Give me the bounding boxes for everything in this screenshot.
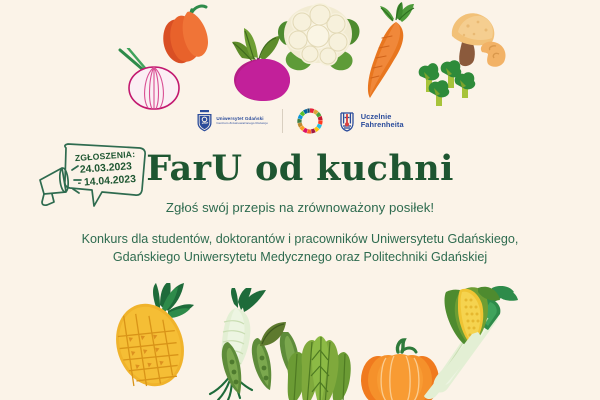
ug-subtitle: Centrum Zrównoważonego Rozwoju	[216, 122, 267, 125]
leafy-cabbage-icon	[278, 330, 362, 400]
poster-canvas: Uniwersytet Gdański Centrum Zrównoważone…	[0, 0, 600, 400]
cauliflower-icon	[276, 0, 362, 72]
logo-fahrenheit: Uczelnie Fahrenheita	[337, 110, 404, 132]
shield-crest-icon	[196, 110, 213, 132]
poster-body-line-2: Gdańskiego Uniwersytetu Medycznego oraz …	[0, 250, 600, 264]
leek-stalk-icon	[420, 330, 490, 400]
poster-subtitle: Zgłoś swój przepis na zrównoważony posił…	[0, 200, 600, 215]
sdg-wheel-icon	[297, 108, 323, 134]
pineapple-icon	[112, 283, 198, 393]
thermometer-crest-icon	[337, 110, 357, 132]
page-title: FarU od kuchni	[0, 148, 600, 189]
ug-text-block: Uniwersytet Gdański Centrum Zrównoważone…	[216, 117, 267, 125]
poster-body-line-1: Konkurs dla studentów, doktorantów i pra…	[0, 232, 600, 246]
logo-row: Uniwersytet Gdański Centrum Zrównoważone…	[0, 108, 600, 134]
carrot-icon	[358, 2, 418, 102]
fahrenheit-line-2: Fahrenheita	[361, 121, 404, 129]
bell-pepper-icon	[152, 4, 218, 66]
logo-university-gdansk: Uniwersytet Gdański Centrum Zrównoważone…	[196, 110, 267, 132]
mushroom-icon	[448, 8, 520, 78]
logo-divider	[282, 109, 283, 133]
fahrenheit-text-block: Uczelnie Fahrenheita	[361, 113, 404, 129]
